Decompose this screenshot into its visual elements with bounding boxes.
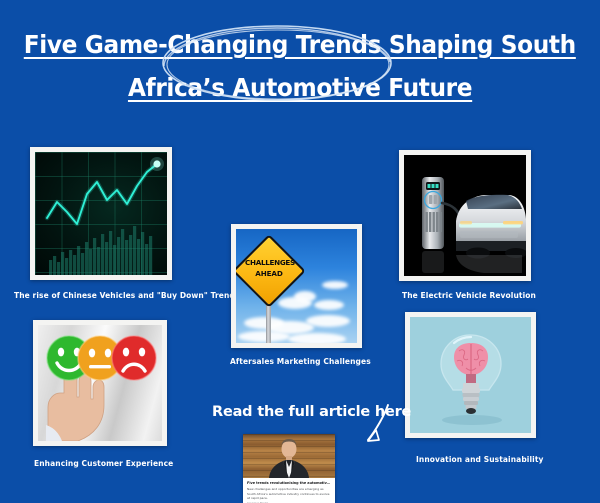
card-innovation-frame	[405, 312, 536, 438]
article-body: Five trends revolutionising the automoti…	[243, 478, 335, 503]
card-customer-experience-frame	[33, 320, 167, 446]
card-electric-vehicle-frame	[399, 150, 531, 281]
sign-text-line-2: AHEAD	[245, 270, 293, 278]
card-aftersales-frame: CHALLENGES AHEAD	[231, 224, 362, 348]
man-in-suit-portrait	[243, 434, 335, 478]
smiley-illustration	[38, 325, 162, 441]
poster-canvas: Five Game-Changing Trends Shaping South …	[0, 0, 600, 503]
article-title: Five trends revolutionising the automoti…	[247, 481, 331, 485]
caption-innovation: Innovation and Sustainability	[416, 455, 544, 464]
brain-in-lightbulb-photo	[410, 317, 531, 433]
satisfaction-smiley-faces-photo	[38, 325, 162, 441]
chart-plot	[35, 152, 167, 275]
hand-drawn-down-arrow-icon	[358, 400, 394, 448]
stock-market-line-chart-photo	[35, 152, 167, 275]
caption-chinese-vehicles: The rise of Chinese Vehicles and "Buy Do…	[14, 291, 235, 300]
ev-illustration	[404, 155, 526, 276]
article-description: New challenges and opportunities are eme…	[247, 487, 331, 500]
bulb-illustration	[410, 317, 531, 433]
title-line-1: Five Game-Changing Trends Shaping South	[24, 30, 576, 60]
ev-charging-station-photo	[404, 155, 526, 276]
caption-electric-vehicle: The Electric Vehicle Revolution	[402, 291, 536, 300]
challenges-ahead-road-sign-photo: CHALLENGES AHEAD	[236, 229, 357, 343]
sign-text-line-1: CHALLENGES	[245, 259, 293, 267]
article-preview-card[interactable]: Five trends revolutionising the automoti…	[243, 434, 335, 503]
title-line-2: Africa’s Automotive Future	[128, 73, 472, 103]
portrait-figure	[243, 434, 335, 478]
poster-title: Five Game-Changing Trends Shaping South …	[0, 30, 600, 103]
caption-customer-experience: Enhancing Customer Experience	[34, 459, 173, 468]
caption-aftersales: Aftersales Marketing Challenges	[230, 357, 371, 366]
card-chinese-vehicles-frame	[30, 147, 172, 280]
